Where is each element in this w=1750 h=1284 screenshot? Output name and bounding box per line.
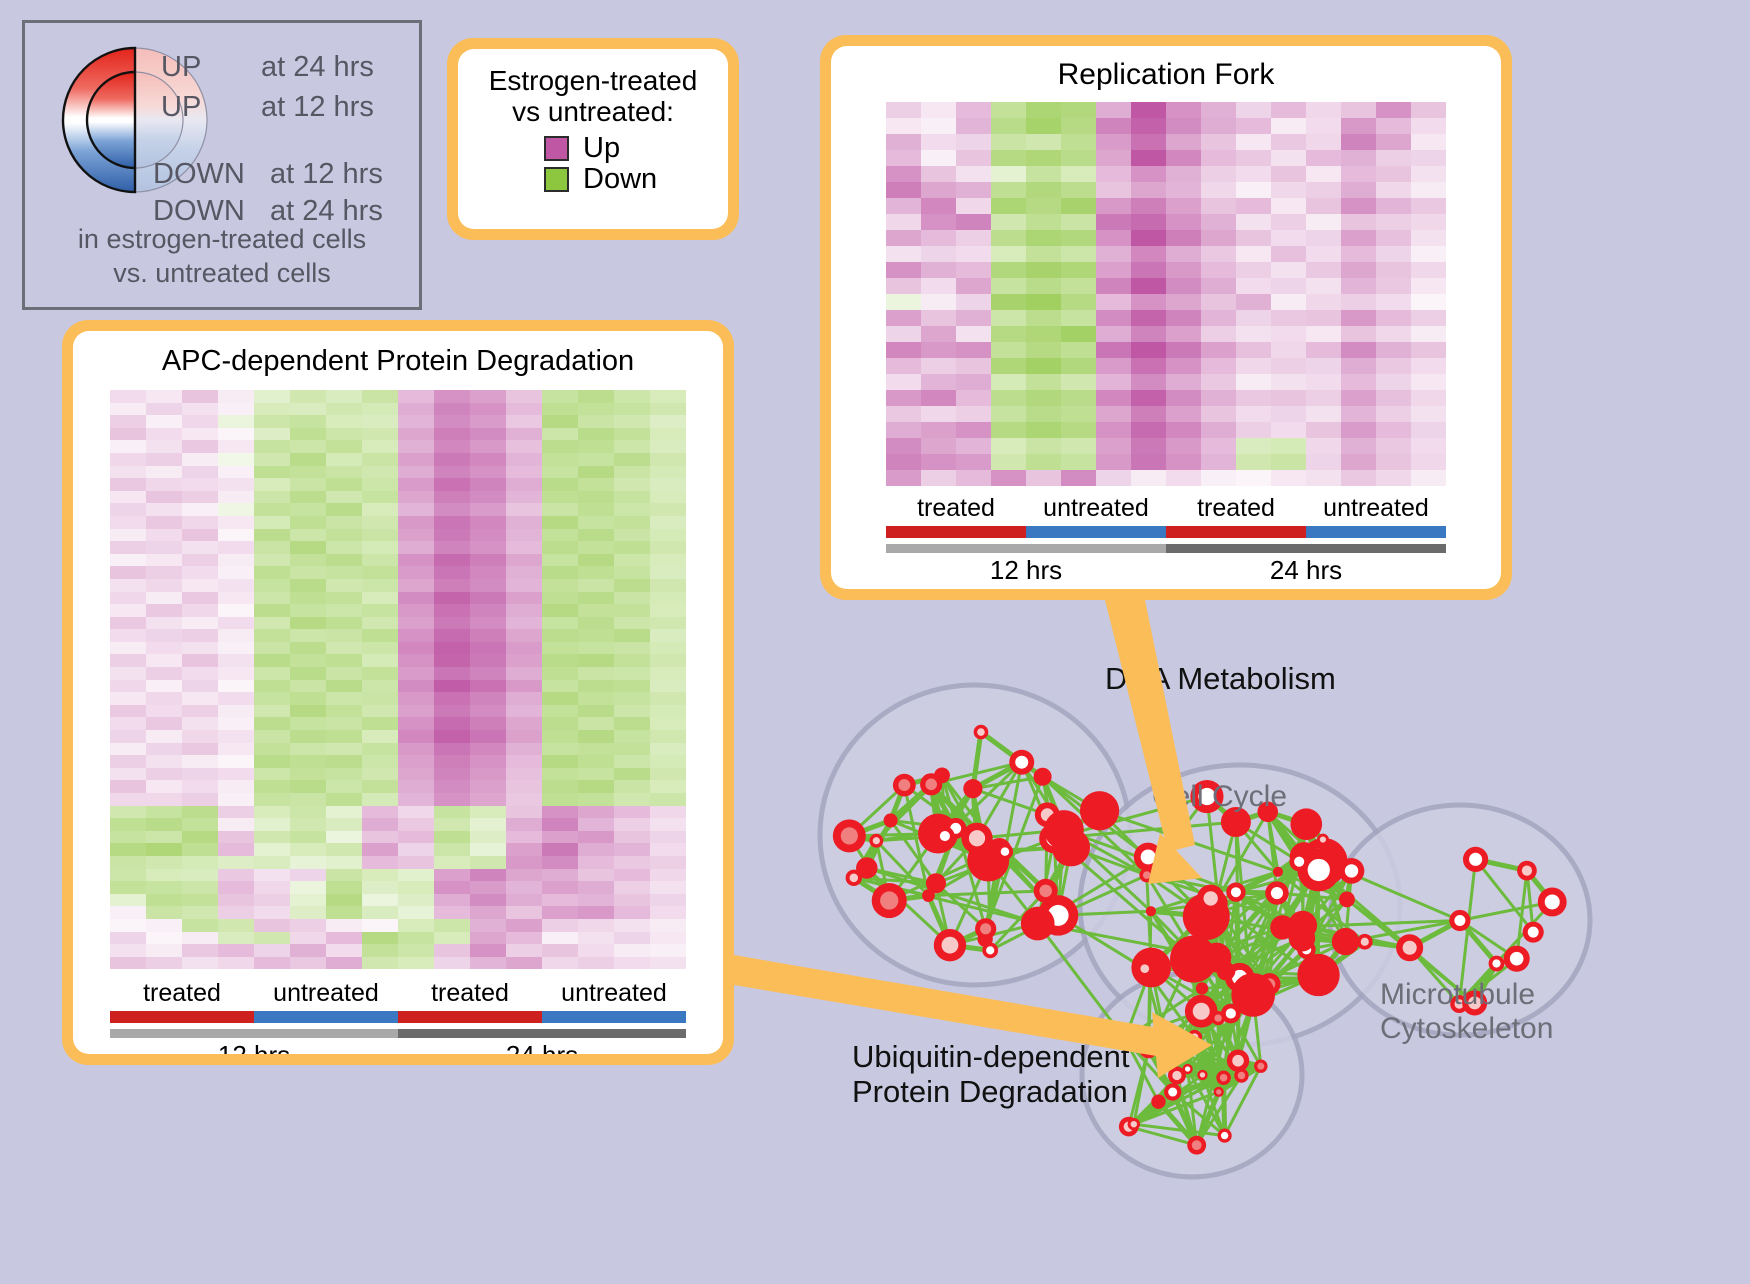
heatmap-cell	[182, 554, 218, 567]
network-node-core	[925, 779, 937, 791]
heatmap-cell	[1271, 150, 1306, 166]
heatmap-cell	[1306, 358, 1341, 374]
heatmap-cell	[1096, 438, 1131, 454]
heatmap-cell	[506, 428, 542, 441]
heatmap-cell	[146, 717, 182, 730]
heatmap-cell	[542, 654, 578, 667]
heatmap-cell	[991, 230, 1026, 246]
heatmap-cell	[326, 642, 362, 655]
heatmap-cell	[1411, 438, 1446, 454]
heatmap-cell	[542, 390, 578, 403]
heatmap-cell	[110, 843, 146, 856]
heatmap-cell	[1411, 230, 1446, 246]
heatmap-cell	[578, 743, 614, 756]
heatmap-cell	[614, 529, 650, 542]
axis-group-label: treated	[886, 494, 1026, 523]
heatmap-cell	[650, 592, 686, 605]
heatmap-cell	[1411, 150, 1446, 166]
heatmap-cell	[146, 957, 182, 970]
heatmap-cell	[506, 592, 542, 605]
heatmap-cell	[218, 554, 254, 567]
heatmap-cell	[290, 466, 326, 479]
heatmap-cell	[470, 453, 506, 466]
heatmap-cell	[506, 806, 542, 819]
heatmap-cell	[362, 944, 398, 957]
heatmap-cell	[254, 478, 290, 491]
heatmap-cell	[921, 358, 956, 374]
heatmap-cell	[1026, 438, 1061, 454]
heatmap-cell	[434, 705, 470, 718]
heatmap-cell	[921, 134, 956, 150]
heatmap-cell	[470, 881, 506, 894]
heatmap-cell	[182, 529, 218, 542]
heatmap-cell	[362, 453, 398, 466]
heatmap-cell	[1096, 182, 1131, 198]
heatmap-cell	[650, 566, 686, 579]
heatmap-cell	[1131, 374, 1166, 390]
network-node-core	[1039, 885, 1052, 898]
heatmap-cell	[434, 390, 470, 403]
heatmap-cell	[362, 491, 398, 504]
heatmap-cell	[290, 579, 326, 592]
heatmap-cell	[434, 617, 470, 630]
axis-group-segment	[1306, 526, 1446, 538]
heatmap-cell	[326, 906, 362, 919]
network-node-core	[1192, 1140, 1202, 1150]
heatmap-cell	[110, 780, 146, 793]
heatmap-cell	[218, 793, 254, 806]
heatmap-cell	[1131, 262, 1166, 278]
axis-group-segment	[110, 1011, 254, 1023]
heatmap-cell	[886, 294, 921, 310]
legend-title-line2: vs untreated:	[458, 96, 728, 127]
heatmap-cell	[218, 843, 254, 856]
heatmap-cell	[1376, 230, 1411, 246]
heatmap-cell	[1271, 166, 1306, 182]
heatmap-cell	[614, 730, 650, 743]
heatmap-cell	[542, 843, 578, 856]
heatmap-cell	[182, 932, 218, 945]
heatmap-cell	[398, 529, 434, 542]
heatmap-cell	[110, 894, 146, 907]
heatmap-cell	[146, 881, 182, 894]
axis-group-segment	[398, 1011, 542, 1023]
heatmap-cell	[1341, 166, 1376, 182]
heatmap-cell	[1376, 390, 1411, 406]
heatmap-cell	[886, 438, 921, 454]
heatmap-cell	[470, 415, 506, 428]
heatmap-cell	[182, 566, 218, 579]
axis-group-labels: treateduntreatedtreateduntreated	[110, 979, 686, 1008]
axis-group-label: treated	[398, 979, 542, 1008]
heatmap-cell	[1341, 118, 1376, 134]
heatmap-cell	[110, 440, 146, 453]
network-node-core	[1131, 1121, 1137, 1127]
heatmap-cell	[434, 541, 470, 554]
heatmap-cell	[254, 604, 290, 617]
heatmap-cell	[362, 705, 398, 718]
heatmap-cell	[326, 415, 362, 428]
heatmap-cell	[1166, 102, 1201, 118]
heatmap-cell	[362, 390, 398, 403]
heatmap-cell	[110, 768, 146, 781]
heatmap-cell	[542, 629, 578, 642]
heatmap-cell	[650, 692, 686, 705]
heatmap-cell	[1201, 358, 1236, 374]
heatmap-cell	[326, 869, 362, 882]
network-node-core	[980, 923, 991, 934]
heatmap-cell	[1236, 230, 1271, 246]
heatmap-cell	[146, 428, 182, 441]
heatmap-cell	[110, 881, 146, 894]
swatch-up-icon	[544, 136, 569, 161]
heatmap-cell	[434, 932, 470, 945]
heatmap-cell	[1271, 262, 1306, 278]
heatmap-cell	[506, 894, 542, 907]
heatmap-cell	[650, 604, 686, 617]
heatmap-cell	[1376, 422, 1411, 438]
axis-time-label: 12 hrs	[886, 555, 1166, 586]
heatmap-cell	[434, 529, 470, 542]
heatmap-cell	[218, 906, 254, 919]
heatmap-cell	[254, 869, 290, 882]
heatmap-cell	[614, 680, 650, 693]
heatmap-cell	[1026, 278, 1061, 294]
heatmap-cell	[578, 554, 614, 567]
heatmap-cell	[578, 894, 614, 907]
heatmap-cell	[110, 906, 146, 919]
heatmap-cell	[542, 692, 578, 705]
heatmap-cell	[254, 856, 290, 869]
heatmap-cell	[1061, 230, 1096, 246]
heatmap-cell	[1096, 214, 1131, 230]
heatmap-cell	[470, 579, 506, 592]
heatmap-cell	[650, 780, 686, 793]
heatmap-cell	[991, 326, 1026, 342]
heatmap-cell	[182, 869, 218, 882]
network-diagram: DNA Metabolism Cell Cycle Microtubule Cy…	[760, 600, 1750, 1279]
heatmap-cell	[110, 818, 146, 831]
heatmap-cell	[956, 470, 991, 486]
network-node-core	[1454, 915, 1465, 926]
heatmap-cell	[650, 755, 686, 768]
heatmap-cell	[1061, 198, 1096, 214]
heatmap-cell	[290, 856, 326, 869]
heatmap-cell	[650, 932, 686, 945]
heatmap-cell	[254, 717, 290, 730]
heatmap-cell	[650, 503, 686, 516]
heatmap-cell	[1131, 118, 1166, 134]
heatmap-cell	[506, 541, 542, 554]
heatmap-cell	[991, 118, 1026, 134]
heatmap-cell	[434, 831, 470, 844]
heatmap-cell	[1341, 342, 1376, 358]
axis-time-bar	[886, 544, 1446, 553]
heatmap-cell	[218, 503, 254, 516]
heatmap-cell	[542, 604, 578, 617]
network-node-core	[1141, 849, 1156, 864]
legend-label-down: Down	[583, 165, 657, 194]
heatmap-cell	[290, 629, 326, 642]
axis-time-segment	[886, 544, 1166, 553]
heatmap-cell	[542, 403, 578, 416]
heatmap-cell	[290, 932, 326, 945]
heatmap-cell	[146, 478, 182, 491]
heatmap-cell	[434, 403, 470, 416]
heatmap-cell	[362, 604, 398, 617]
heatmap-cell	[470, 793, 506, 806]
heatmap-cell	[578, 629, 614, 642]
heatmap-cell	[470, 428, 506, 441]
network-node-core	[1015, 756, 1028, 769]
heatmap-cell	[1201, 246, 1236, 262]
heatmap-cell	[470, 768, 506, 781]
heatmap-cell	[290, 793, 326, 806]
heatmap-cell	[470, 440, 506, 453]
heatmap-cell	[218, 592, 254, 605]
heatmap-cell	[578, 604, 614, 617]
heatmap-cell	[146, 440, 182, 453]
axis-group-bar	[110, 1011, 686, 1023]
heatmap-cell	[254, 818, 290, 831]
network-node-core	[1510, 952, 1524, 966]
axis-group-labels: treateduntreatedtreateduntreated	[886, 494, 1446, 523]
heatmap-cell	[1376, 294, 1411, 310]
heatmap-cell	[326, 566, 362, 579]
axis-time-segment	[1166, 544, 1446, 553]
heatmap-cell	[1096, 454, 1131, 470]
heatmap-cell	[506, 529, 542, 542]
heatmap-cell	[146, 453, 182, 466]
heatmap-cell	[146, 529, 182, 542]
key-footer-line1: in estrogen-treated cells	[25, 223, 419, 257]
heatmap-cell	[470, 957, 506, 970]
heatmap-cell	[921, 246, 956, 262]
axis-group-segment	[886, 526, 1026, 538]
heatmap-cell	[542, 428, 578, 441]
heatmap-cell	[218, 730, 254, 743]
heatmap-cell	[1376, 150, 1411, 166]
heatmap-cell	[398, 428, 434, 441]
heatmap-cell	[614, 705, 650, 718]
heatmap-cell	[326, 390, 362, 403]
heatmap-cell	[398, 869, 434, 882]
heatmap-cell	[110, 806, 146, 819]
heatmap-cell	[1166, 230, 1201, 246]
heatmap-cell	[110, 541, 146, 554]
heatmap-cell	[650, 516, 686, 529]
heatmap-cell	[254, 516, 290, 529]
heatmap-cell	[614, 440, 650, 453]
heatmap-cell	[326, 843, 362, 856]
heatmap-cell	[921, 214, 956, 230]
heatmap-cell	[218, 579, 254, 592]
heatmap-cell	[1236, 358, 1271, 374]
heatmap-cell	[542, 453, 578, 466]
heatmap-cell	[470, 642, 506, 655]
heatmap-cell	[542, 869, 578, 882]
heatmap-cell	[434, 881, 470, 894]
heatmap-cell	[1236, 198, 1271, 214]
heatmap-cell	[434, 856, 470, 869]
axis-group-segment	[254, 1011, 398, 1023]
network-node	[1151, 1095, 1165, 1109]
cluster-label-ubiquitin-line1: Ubiquitin-dependent	[852, 1040, 1130, 1075]
heatmap-cell	[326, 403, 362, 416]
heatmap-cell	[506, 919, 542, 932]
heatmap-cell	[578, 491, 614, 504]
heatmap-cell	[1026, 102, 1061, 118]
heatmap-cell	[542, 894, 578, 907]
heatmap-cell	[650, 667, 686, 680]
heatmap-cell	[1376, 326, 1411, 342]
heatmap-cell	[434, 667, 470, 680]
legend-title: Estrogen-treated vs untreated:	[458, 65, 728, 128]
heatmap-cell	[1411, 454, 1446, 470]
heatmap-cell	[1411, 470, 1446, 486]
heatmap-cell	[434, 780, 470, 793]
heatmap-cell	[146, 919, 182, 932]
heatmap-cell	[1376, 342, 1411, 358]
heatmap-cell	[326, 554, 362, 567]
heatmap-cell	[650, 440, 686, 453]
heatmap-cell	[1131, 342, 1166, 358]
heatmap-cell	[650, 831, 686, 844]
heatmap-cell	[110, 831, 146, 844]
heatmap-cell	[650, 894, 686, 907]
heatmap-cell	[146, 629, 182, 642]
heatmap-cell	[614, 906, 650, 919]
heatmap-cell	[578, 403, 614, 416]
heatmap-cell	[1026, 150, 1061, 166]
heatmap-cell	[506, 881, 542, 894]
heatmap-cell	[434, 566, 470, 579]
heatmap-cell	[921, 230, 956, 246]
cluster-label-microtubule-line1: Microtubule	[1380, 978, 1553, 1012]
heatmap-cell	[1271, 278, 1306, 294]
axis-group-label: treated	[1166, 494, 1306, 523]
heatmap-cell	[470, 806, 506, 819]
heatmap-cell	[650, 390, 686, 403]
heatmap-cell	[1236, 454, 1271, 470]
heatmap-cell	[1306, 198, 1341, 214]
heatmap-cell	[110, 592, 146, 605]
heatmap-cell	[1271, 374, 1306, 390]
heatmap-cell	[956, 342, 991, 358]
heatmap-cell	[650, 944, 686, 957]
heatmap-cell	[614, 743, 650, 756]
network-node-core	[1545, 894, 1560, 909]
heatmap-cell	[1131, 326, 1166, 342]
heatmap-cell	[326, 894, 362, 907]
heatmap-cell	[362, 780, 398, 793]
heatmap-cell	[1411, 390, 1446, 406]
heatmap-cell	[326, 428, 362, 441]
heatmap-cell	[614, 453, 650, 466]
heatmap-cell	[1271, 246, 1306, 262]
heatmap-cell	[1271, 310, 1306, 326]
heatmap-cell	[254, 503, 290, 516]
heatmap-cell	[470, 390, 506, 403]
heatmap-cell	[290, 592, 326, 605]
heatmap-cell	[110, 869, 146, 882]
heatmap-cell	[254, 692, 290, 705]
heatmap-cell	[956, 214, 991, 230]
heatmap-cell	[1201, 102, 1236, 118]
heatmap-cell	[290, 654, 326, 667]
heatmap-cell	[614, 692, 650, 705]
heatmap-cell	[1026, 182, 1061, 198]
heatmap-cell	[290, 705, 326, 718]
heatmap-cell	[1026, 294, 1061, 310]
network-node	[856, 857, 877, 878]
heatmap-cell	[578, 440, 614, 453]
heatmap-cell	[1096, 262, 1131, 278]
heatmap-cell	[1131, 166, 1166, 182]
heatmap-cell	[1411, 246, 1446, 262]
heatmap-cell	[1096, 310, 1131, 326]
heatmap-cell	[326, 629, 362, 642]
heatmap-cell	[398, 806, 434, 819]
heatmap-cell	[182, 642, 218, 655]
heatmap-cell	[1166, 326, 1201, 342]
heatmap-cell	[326, 705, 362, 718]
heatmap-cell	[182, 491, 218, 504]
key-time-down-12: at 12 hrs	[270, 158, 383, 191]
heatmap-cell	[362, 642, 398, 655]
heatmap-cell	[1271, 326, 1306, 342]
replication-fork-title: Replication Fork	[831, 58, 1501, 92]
heatmap-cell	[921, 406, 956, 422]
heatmap-cell	[218, 869, 254, 882]
heatmap-cell	[542, 579, 578, 592]
key-word-up-12: UP	[161, 91, 201, 124]
heatmap-cell	[506, 453, 542, 466]
heatmap-cell	[614, 944, 650, 957]
heatmap-cell	[956, 438, 991, 454]
heatmap-cell	[218, 881, 254, 894]
heatmap-cell	[434, 478, 470, 491]
heatmap-cell	[398, 579, 434, 592]
heatmap-cell	[470, 780, 506, 793]
heatmap-cell	[362, 415, 398, 428]
heatmap-cell	[398, 780, 434, 793]
heatmap-cell	[1306, 166, 1341, 182]
heatmap-cell	[326, 831, 362, 844]
heatmap-cell	[290, 667, 326, 680]
heatmap-cell	[614, 566, 650, 579]
heatmap-cell	[434, 730, 470, 743]
heatmap-cell	[1061, 214, 1096, 230]
heatmap-cell	[182, 843, 218, 856]
heatmap-cell	[1376, 454, 1411, 470]
heatmap-cell	[650, 818, 686, 831]
heatmap-cell	[578, 944, 614, 957]
heatmap-cell	[506, 831, 542, 844]
heatmap-cell	[1411, 102, 1446, 118]
heatmap-cell	[398, 919, 434, 932]
heatmap-cell	[1271, 470, 1306, 486]
heatmap-cell	[1306, 310, 1341, 326]
heatmap-cell	[1201, 326, 1236, 342]
heatmap-cell	[218, 957, 254, 970]
heatmap-cell	[1411, 358, 1446, 374]
heatmap-cell	[506, 743, 542, 756]
apc-title: APC-dependent Protein Degradation	[73, 345, 723, 378]
heatmap-cell	[578, 516, 614, 529]
key-time-up-24: at 24 hrs	[261, 51, 374, 84]
heatmap-cell	[326, 881, 362, 894]
